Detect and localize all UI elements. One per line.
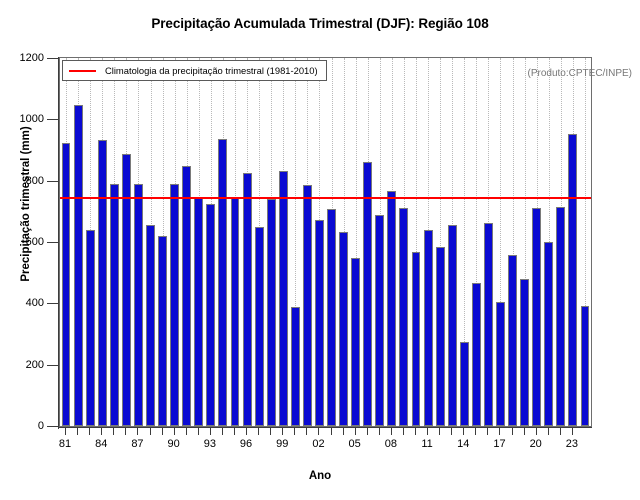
x-tick xyxy=(294,427,295,435)
bar xyxy=(98,140,107,426)
y-tick xyxy=(47,365,59,366)
bar xyxy=(351,258,360,426)
x-tick xyxy=(499,427,500,435)
y-tick xyxy=(47,58,59,59)
bar xyxy=(581,306,590,426)
x-tick-label: 96 xyxy=(240,438,252,450)
x-tick-label: 14 xyxy=(457,438,469,450)
bar xyxy=(158,236,167,426)
x-tick xyxy=(439,427,440,435)
x-tick xyxy=(451,427,452,435)
x-tick xyxy=(536,427,537,435)
x-tick xyxy=(487,427,488,435)
bar xyxy=(74,105,83,426)
x-tick xyxy=(391,427,392,435)
x-tick xyxy=(331,427,332,435)
bar xyxy=(448,225,457,426)
bar xyxy=(206,204,215,426)
bar xyxy=(267,199,276,426)
x-tick xyxy=(282,427,283,435)
x-tick xyxy=(186,427,187,435)
x-tick xyxy=(463,427,464,435)
x-axis: 818487909396990205081114172023 xyxy=(59,427,592,467)
x-tick xyxy=(137,427,138,435)
bar xyxy=(544,242,553,426)
climatology-line xyxy=(60,197,591,199)
bar xyxy=(62,143,71,426)
y-tick-label: 0 xyxy=(38,420,44,432)
bar xyxy=(424,230,433,426)
legend-label: Climatologia da precipitação trimestral … xyxy=(105,65,318,76)
bar xyxy=(520,279,529,427)
bar xyxy=(86,230,95,426)
x-tick xyxy=(162,427,163,435)
producer-annotation: (Produto:CPTEC/INPE) xyxy=(528,68,632,79)
x-tick-label: 90 xyxy=(168,438,180,450)
bar xyxy=(231,198,240,426)
bar xyxy=(472,283,481,426)
x-tick-label: 93 xyxy=(204,438,216,450)
bar xyxy=(556,207,565,426)
y-tick xyxy=(47,303,59,304)
x-tick xyxy=(318,427,319,435)
bar xyxy=(110,184,119,426)
x-axis-title: Ano xyxy=(0,470,640,482)
bar xyxy=(255,227,264,426)
bar xyxy=(327,209,336,426)
x-tick xyxy=(270,427,271,435)
x-tick xyxy=(210,427,211,435)
bar xyxy=(339,232,348,426)
x-tick-label: 02 xyxy=(312,438,324,450)
x-tick xyxy=(150,427,151,435)
x-tick-label: 87 xyxy=(131,438,143,450)
bar xyxy=(436,247,445,426)
bar xyxy=(460,342,469,426)
x-tick xyxy=(572,427,573,435)
bar xyxy=(315,220,324,426)
x-tick-label: 81 xyxy=(59,438,71,450)
bar xyxy=(484,223,493,426)
bar xyxy=(182,166,191,426)
bar xyxy=(291,307,300,426)
x-tick-label: 17 xyxy=(493,438,505,450)
x-tick xyxy=(65,427,66,435)
x-tick xyxy=(258,427,259,435)
plot-area xyxy=(59,57,592,427)
x-tick-label: 08 xyxy=(385,438,397,450)
bar xyxy=(568,134,577,426)
x-tick-label: 99 xyxy=(276,438,288,450)
bar xyxy=(412,252,421,426)
x-tick-label: 84 xyxy=(95,438,107,450)
y-axis-title: Precipitação trimestral (mm) xyxy=(20,24,32,384)
x-tick xyxy=(89,427,90,435)
x-tick xyxy=(125,427,126,435)
bar xyxy=(122,154,131,426)
x-tick xyxy=(355,427,356,435)
x-tick xyxy=(234,427,235,435)
bar xyxy=(496,302,505,427)
x-tick-label: 20 xyxy=(530,438,542,450)
chart-title: Precipitação Acumulada Trimestral (DJF):… xyxy=(0,16,640,31)
plot-inner xyxy=(60,58,591,426)
x-tick-label: 11 xyxy=(421,438,432,450)
chart-root: Precipitação Acumulada Trimestral (DJF):… xyxy=(0,0,640,500)
x-tick xyxy=(415,427,416,435)
x-tick xyxy=(548,427,549,435)
x-tick xyxy=(101,427,102,435)
x-tick xyxy=(427,427,428,435)
bar xyxy=(134,184,143,426)
legend: Climatologia da precipitação trimestral … xyxy=(62,60,327,81)
bar xyxy=(170,184,179,426)
x-tick xyxy=(367,427,368,435)
x-tick xyxy=(524,427,525,435)
bar xyxy=(243,173,252,426)
bar xyxy=(146,225,155,426)
bar xyxy=(303,185,312,426)
x-tick xyxy=(343,427,344,435)
x-tick xyxy=(77,427,78,435)
x-tick xyxy=(198,427,199,435)
bar xyxy=(387,191,396,426)
y-tick xyxy=(47,242,59,243)
bar xyxy=(218,139,227,426)
bar xyxy=(363,162,372,426)
bar xyxy=(532,208,541,426)
y-tick xyxy=(47,119,59,120)
bar-series xyxy=(60,58,591,426)
x-tick-label: 05 xyxy=(349,438,361,450)
x-tick xyxy=(306,427,307,435)
bar xyxy=(375,215,384,426)
x-tick xyxy=(174,427,175,435)
x-tick xyxy=(475,427,476,435)
x-tick xyxy=(560,427,561,435)
bar xyxy=(399,208,408,426)
bar xyxy=(508,255,517,426)
legend-line-swatch xyxy=(69,70,96,72)
y-tick xyxy=(47,181,59,182)
x-tick xyxy=(512,427,513,435)
x-tick xyxy=(113,427,114,435)
bar xyxy=(279,171,288,426)
x-tick-label: 23 xyxy=(566,438,578,450)
x-tick xyxy=(379,427,380,435)
x-tick xyxy=(222,427,223,435)
bar xyxy=(194,198,203,426)
x-tick xyxy=(403,427,404,435)
x-tick xyxy=(246,427,247,435)
